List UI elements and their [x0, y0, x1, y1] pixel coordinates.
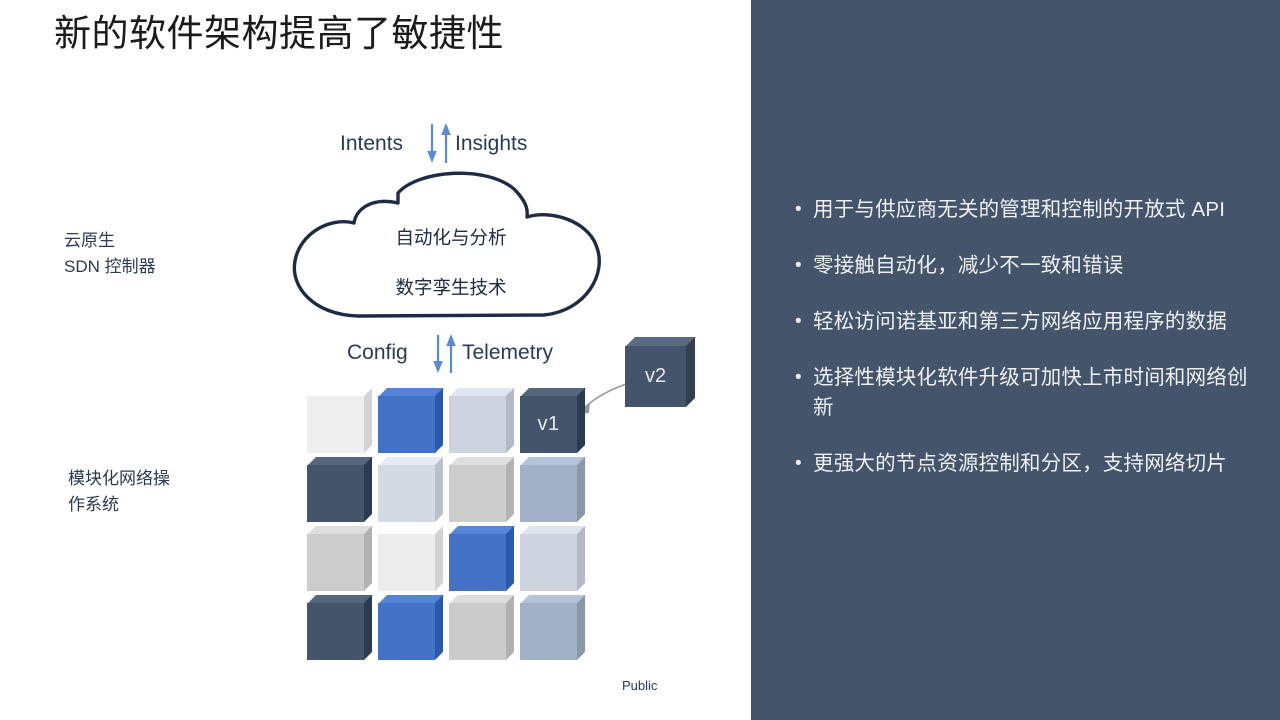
module-tile[interactable] [520, 595, 585, 660]
module-tile-front-face [520, 534, 577, 591]
benefit-item: •用于与供应商无关的管理和控制的开放式 API [791, 195, 1259, 225]
module-tile[interactable] [378, 595, 443, 660]
benefit-item-text: 更强大的节点资源控制和分区，支持网络切片 [813, 449, 1259, 479]
version-block-v2-label: v2 [625, 346, 686, 407]
module-tile[interactable] [378, 526, 443, 591]
label-sdn-controller: 云原生 SDN 控制器 [64, 228, 156, 280]
module-tile-front-face [378, 603, 435, 660]
module-tile-v1[interactable]: v1 [520, 388, 585, 453]
cloud-text-line-1: 自动化与分析 [286, 225, 616, 251]
module-tile[interactable] [307, 526, 372, 591]
module-tile-front-face [378, 465, 435, 522]
module-tile[interactable] [449, 595, 514, 660]
bullet-marker-icon: • [791, 363, 813, 393]
module-tile[interactable] [520, 457, 585, 522]
benefit-item: •零接触自动化，减少不一致和错误 [791, 251, 1259, 281]
module-tile-side-face [364, 388, 372, 453]
module-tile-side-face [506, 526, 514, 591]
module-tile[interactable] [307, 457, 372, 522]
arrow-up-icon [446, 334, 456, 373]
bottom-flow-arrows [430, 330, 466, 380]
module-tile-side-face [435, 388, 443, 453]
benefits-list: •用于与供应商无关的管理和控制的开放式 API•零接触自动化，减少不一致和错误•… [791, 195, 1259, 505]
module-tile-front-face [378, 396, 435, 453]
classification-label: Public [622, 678, 657, 693]
module-tile[interactable] [520, 526, 585, 591]
architecture-diagram: 云原生 SDN 控制器 模块化网络操 作系统 Intents Insights … [0, 0, 751, 720]
bullet-marker-icon: • [791, 251, 813, 281]
benefit-item: •更强大的节点资源控制和分区，支持网络切片 [791, 449, 1259, 479]
module-tile-side-face [435, 457, 443, 522]
module-tile-front-face [449, 534, 506, 591]
benefit-item-text: 选择性模块化软件升级可加快上市时间和网络创新 [813, 363, 1259, 423]
module-tile-side-face [506, 595, 514, 660]
slide-canvas: 新的软件架构提高了敏捷性 云原生 SDN 控制器 模块化网络操 作系统 Inte… [0, 0, 1280, 720]
module-tile-side-face [577, 526, 585, 591]
label-network-os: 模块化网络操 作系统 [68, 466, 170, 518]
module-tile-side-face [364, 595, 372, 660]
bullet-marker-icon: • [791, 307, 813, 337]
module-grid: v1 [307, 388, 597, 668]
benefits-panel: •用于与供应商无关的管理和控制的开放式 API•零接触自动化，减少不一致和错误•… [751, 0, 1280, 720]
module-tile[interactable] [449, 526, 514, 591]
benefit-item: •选择性模块化软件升级可加快上市时间和网络创新 [791, 363, 1259, 423]
module-tile-front-face [449, 396, 506, 453]
label-telemetry: Telemetry [462, 339, 553, 367]
label-intents: Intents [340, 130, 403, 158]
label-config: Config [347, 339, 408, 367]
module-tile[interactable] [378, 388, 443, 453]
module-tile[interactable] [449, 457, 514, 522]
module-tile-front-face [449, 603, 506, 660]
module-tile-front-face [378, 534, 435, 591]
module-tile-side-face [506, 388, 514, 453]
top-flow-arrows [424, 118, 460, 168]
module-tile[interactable] [378, 457, 443, 522]
benefit-item-text: 零接触自动化，减少不一致和错误 [813, 251, 1259, 281]
bullet-marker-icon: • [791, 195, 813, 225]
module-tile-front-face [449, 465, 506, 522]
module-tile[interactable] [307, 595, 372, 660]
arrow-up-icon [441, 123, 451, 163]
module-tile-side-face [364, 526, 372, 591]
module-tile-label: v1 [520, 396, 577, 453]
module-tile-side-face [577, 595, 585, 660]
module-tile-side-face [577, 457, 585, 522]
benefit-item-text: 轻松访问诺基亚和第三方网络应用程序的数据 [813, 307, 1259, 337]
module-tile-side-face [435, 526, 443, 591]
module-tile-front-face [307, 465, 364, 522]
arrow-down-icon [433, 335, 443, 373]
module-tile-side-face [506, 457, 514, 522]
module-tile-front-face [307, 396, 364, 453]
benefit-item: •轻松访问诺基亚和第三方网络应用程序的数据 [791, 307, 1259, 337]
module-tile[interactable] [449, 388, 514, 453]
module-tile[interactable] [307, 388, 372, 453]
module-tile-front-face [307, 603, 364, 660]
module-tile-side-face [435, 595, 443, 660]
cloud-shape: 自动化与分析 数字孪生技术 [286, 165, 616, 323]
module-tile-front-face [520, 465, 577, 522]
arrow-down-icon [427, 124, 437, 163]
module-tile-front-face [307, 534, 364, 591]
label-insights: Insights [455, 130, 527, 158]
module-tile-side-face [364, 457, 372, 522]
module-tile-front-face [520, 603, 577, 660]
version-block-v2[interactable]: v2 [625, 337, 695, 407]
bullet-marker-icon: • [791, 449, 813, 479]
benefit-item-text: 用于与供应商无关的管理和控制的开放式 API [813, 195, 1259, 225]
module-tile-side-face [577, 388, 585, 453]
cloud-text-line-2: 数字孪生技术 [286, 275, 616, 301]
